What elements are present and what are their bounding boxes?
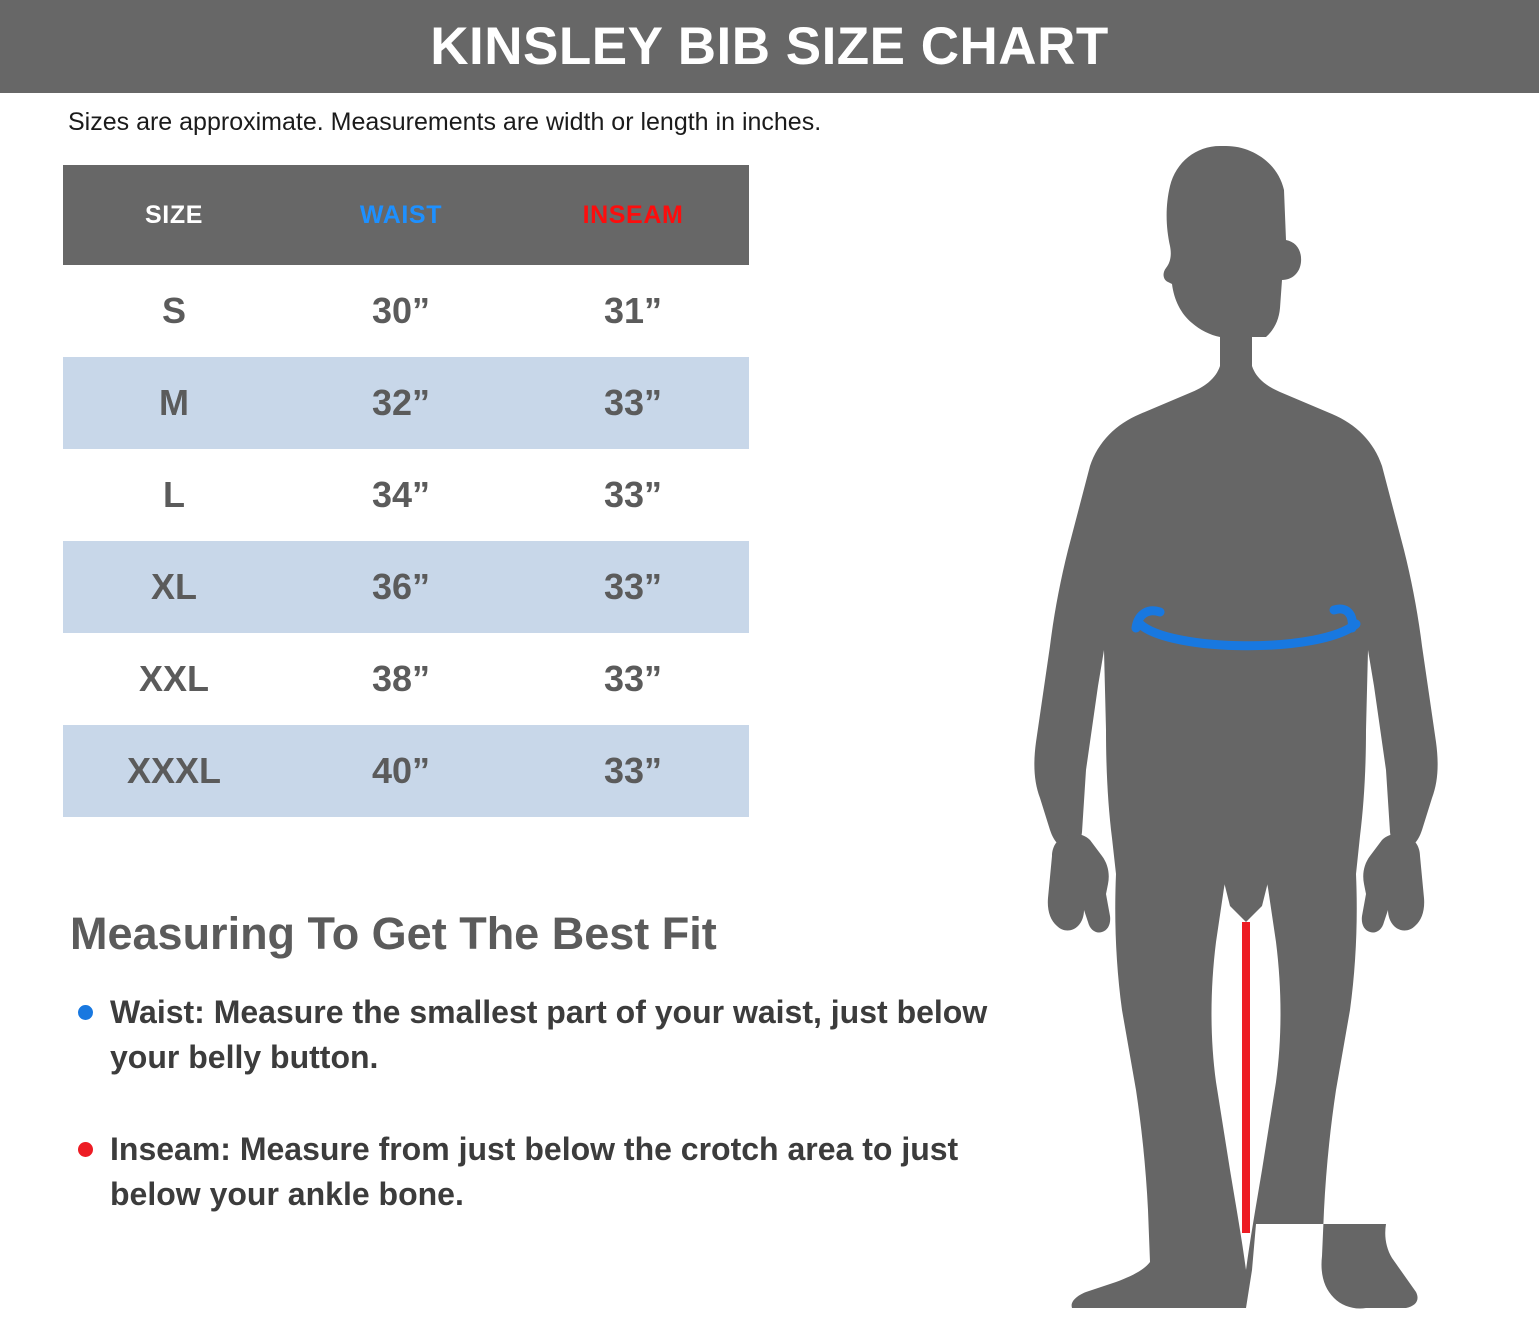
cell-size: XL bbox=[63, 541, 285, 633]
cell-waist: 30” bbox=[285, 265, 517, 357]
size-table-header: SIZE WAIST INSEAM bbox=[63, 165, 749, 265]
body-silhouette-svg bbox=[1020, 130, 1480, 1310]
cell-waist: 34” bbox=[285, 449, 517, 541]
table-row: XL 36” 33” bbox=[63, 541, 749, 633]
cell-inseam: 33” bbox=[517, 541, 749, 633]
header-banner: KINSLEY BIB SIZE CHART bbox=[0, 0, 1539, 93]
cell-size: XXXL bbox=[63, 725, 285, 817]
cell-waist: 32” bbox=[285, 357, 517, 449]
size-chart-page: KINSLEY BIB SIZE CHART Sizes are approxi… bbox=[0, 0, 1539, 1334]
body-figure-illustration bbox=[1020, 130, 1480, 1310]
cell-size: L bbox=[63, 449, 285, 541]
subtitle-note: Sizes are approximate. Measurements are … bbox=[68, 108, 821, 137]
cell-waist: 36” bbox=[285, 541, 517, 633]
cell-waist: 40” bbox=[285, 725, 517, 817]
cell-inseam: 33” bbox=[517, 357, 749, 449]
cell-inseam: 33” bbox=[517, 633, 749, 725]
table-row: XXXL 40” 33” bbox=[63, 725, 749, 817]
size-table-body: S 30” 31” M 32” 33” L 34” 33” XL 36” 33”… bbox=[63, 265, 749, 817]
list-item: Inseam: Measure from just below the crot… bbox=[74, 1127, 1034, 1218]
cell-size: M bbox=[63, 357, 285, 449]
size-table: SIZE WAIST INSEAM S 30” 31” M 32” 33” L … bbox=[63, 165, 749, 817]
inseam-instruction-text: Inseam: Measure from just below the crot… bbox=[110, 1131, 958, 1212]
table-row: L 34” 33” bbox=[63, 449, 749, 541]
list-item: Waist: Measure the smallest part of your… bbox=[74, 990, 1034, 1081]
bullet-dot-icon bbox=[78, 1005, 93, 1020]
cell-inseam: 33” bbox=[517, 725, 749, 817]
cell-inseam: 31” bbox=[517, 265, 749, 357]
table-header-row: SIZE WAIST INSEAM bbox=[63, 165, 749, 265]
table-row: S 30” 31” bbox=[63, 265, 749, 357]
page-title: KINSLEY BIB SIZE CHART bbox=[430, 20, 1108, 73]
column-header-waist: WAIST bbox=[285, 165, 517, 265]
bullet-dot-icon bbox=[78, 1142, 93, 1157]
male-silhouette-icon bbox=[1034, 146, 1437, 1309]
cell-inseam: 33” bbox=[517, 449, 749, 541]
table-row: XXL 38” 33” bbox=[63, 633, 749, 725]
cell-waist: 38” bbox=[285, 633, 517, 725]
measuring-instructions: Waist: Measure the smallest part of your… bbox=[74, 990, 1034, 1264]
waist-instruction-text: Waist: Measure the smallest part of your… bbox=[110, 994, 987, 1075]
column-header-inseam: INSEAM bbox=[517, 165, 749, 265]
cell-size: XXL bbox=[63, 633, 285, 725]
cell-size: S bbox=[63, 265, 285, 357]
table-row: M 32” 33” bbox=[63, 357, 749, 449]
measuring-heading: Measuring To Get The Best Fit bbox=[70, 908, 717, 960]
column-header-size: SIZE bbox=[63, 165, 285, 265]
